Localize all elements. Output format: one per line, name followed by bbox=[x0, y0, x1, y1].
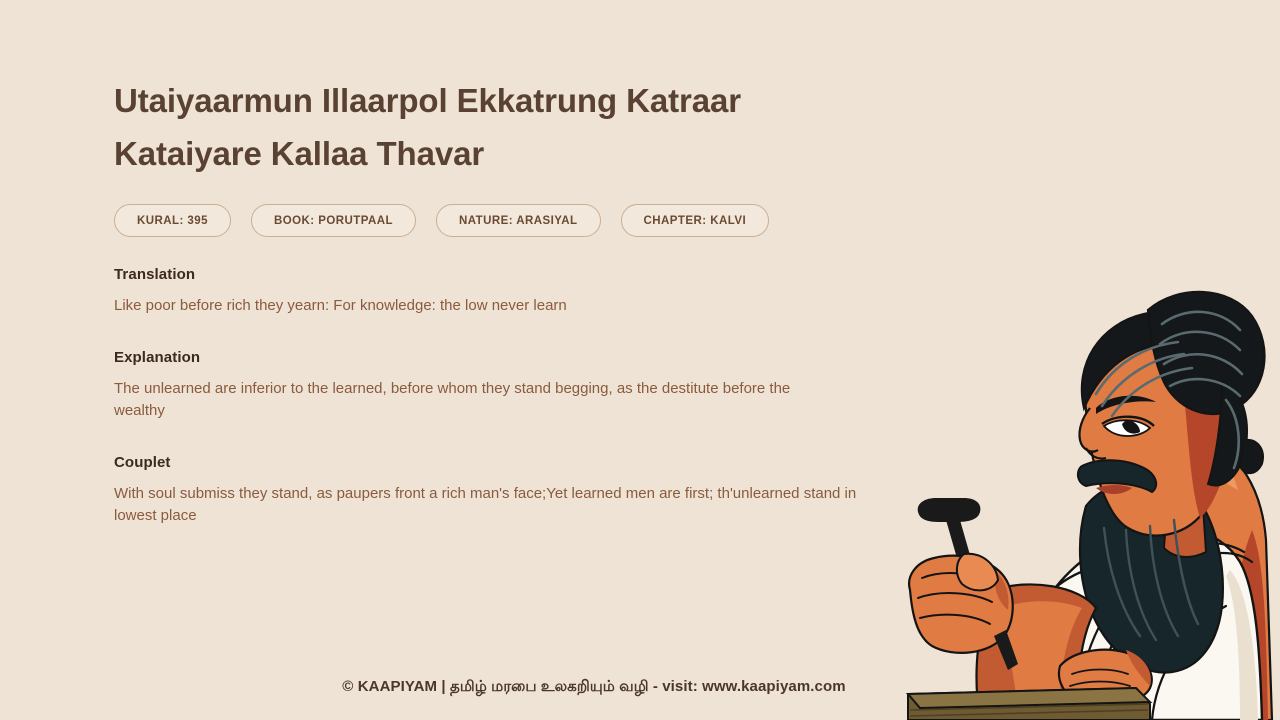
meta-pill-row: KURAL: 395 BOOK: PORUTPAAL NATURE: ARASI… bbox=[114, 204, 769, 237]
section-translation: Translation Like poor before rich they y… bbox=[114, 266, 874, 318]
kural-card: Utaiyaarmun Illaarpol Ekkatrung Katraar … bbox=[114, 0, 914, 720]
page-title: Utaiyaarmun Illaarpol Ekkatrung Katraar … bbox=[114, 74, 874, 180]
pill-kural-number[interactable]: KURAL: 395 bbox=[114, 204, 231, 237]
section-couplet: Couplet With soul submiss they stand, as… bbox=[114, 454, 874, 528]
kural-title-line-2: Kataiyare Kallaa Thavar bbox=[114, 135, 484, 172]
section-explanation: Explanation The unlearned are inferior t… bbox=[114, 349, 874, 423]
pill-nature[interactable]: NATURE: ARASIYAL bbox=[436, 204, 601, 237]
section-explanation-heading: Explanation bbox=[114, 349, 874, 366]
sections-list: Translation Like poor before rich they y… bbox=[114, 266, 874, 528]
thiruvalluvar-illustration bbox=[900, 290, 1280, 720]
pill-chapter[interactable]: CHAPTER: KALVI bbox=[621, 204, 770, 237]
pill-book[interactable]: BOOK: PORUTPAAL bbox=[251, 204, 416, 237]
footer-credit[interactable]: © KAAPIYAM | தமிழ் மரபை உலகறியும் வழி - … bbox=[0, 678, 1188, 697]
kural-title-line-1: Utaiyaarmun Illaarpol Ekkatrung Katraar bbox=[114, 82, 741, 119]
section-translation-heading: Translation bbox=[114, 266, 874, 283]
section-translation-body: Like poor before rich they yearn: For kn… bbox=[114, 295, 844, 318]
section-couplet-body: With soul submiss they stand, as paupers… bbox=[114, 483, 859, 528]
section-couplet-heading: Couplet bbox=[114, 454, 874, 471]
section-explanation-body: The unlearned are inferior to the learne… bbox=[114, 378, 844, 423]
